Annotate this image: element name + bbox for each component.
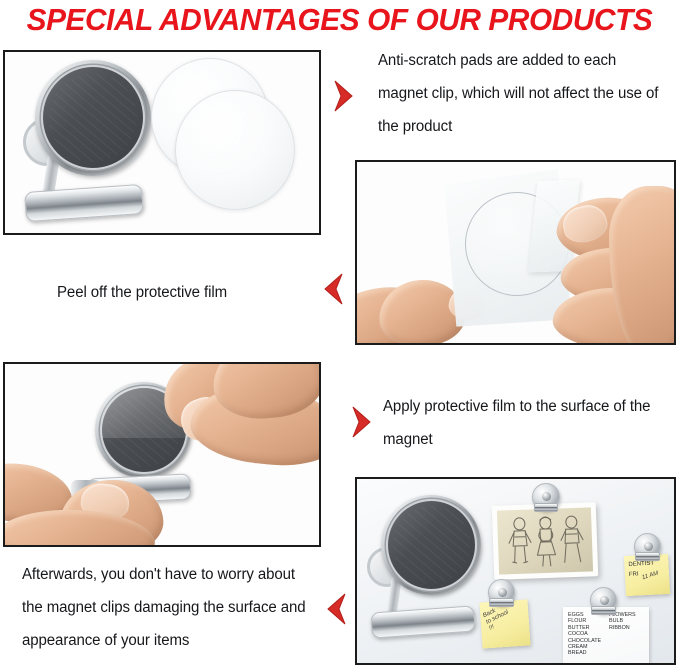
hero-magnet-face: [386, 499, 477, 591]
protective-pad-front: [175, 90, 295, 210]
clip-on-photo-bar: [534, 503, 558, 512]
clip-list-bar: [591, 606, 616, 615]
step-2-image: [355, 160, 676, 345]
step-2-caption: Peel off the protective film: [57, 276, 309, 309]
clip-dentist-bar: [635, 552, 660, 561]
step-1-image: [3, 50, 321, 235]
chevron-right-icon-1: [330, 79, 360, 113]
right-hand-palm: [609, 186, 676, 345]
page-title: SPECIAL ADVANTAGES OF OUR PRODUCTS: [14, 2, 666, 38]
clip-on-shopping-list: [587, 587, 621, 619]
clip-on-school-note: [485, 579, 519, 611]
clip-on-dentist-note: [631, 533, 665, 565]
step-3-image: [3, 362, 321, 547]
magnet-clip-illustration: [13, 56, 153, 231]
hero-magnet-clip: [363, 491, 483, 651]
chevron-left-icon-2: [317, 272, 347, 306]
chevron-right-icon-3: [348, 405, 378, 439]
step-3-caption: Apply protective film to the surface of …: [383, 390, 664, 456]
clip-school-bar: [489, 598, 514, 607]
hero-clip-bar: [370, 605, 476, 638]
sticky-note-dentist-line2: FRI: [629, 571, 639, 579]
step-1-caption: Anti-scratch pads are added to each magn…: [378, 44, 659, 143]
clip-on-photo: [529, 483, 563, 515]
clip-list-knob: [600, 596, 609, 605]
sticky-note-dentist-time: 11 AM: [641, 571, 659, 583]
photo-image: [497, 507, 593, 574]
step-4-image: Back to school !!! EGGS FLOUR BUTTER COC…: [355, 477, 676, 665]
clip-on-photo-knob: [542, 492, 551, 501]
product-infographic: SPECIAL ADVANTAGES OF OUR PRODUCTS Anti-…: [0, 0, 679, 670]
chevron-left-icon-4: [320, 592, 350, 626]
magnet-face: [41, 65, 145, 170]
clip-school-knob: [498, 588, 507, 597]
clip-dentist-knob: [644, 542, 653, 551]
step-4-caption: Afterwards, you don't have to worry abou…: [22, 558, 313, 657]
sketch-figures: [503, 512, 589, 573]
